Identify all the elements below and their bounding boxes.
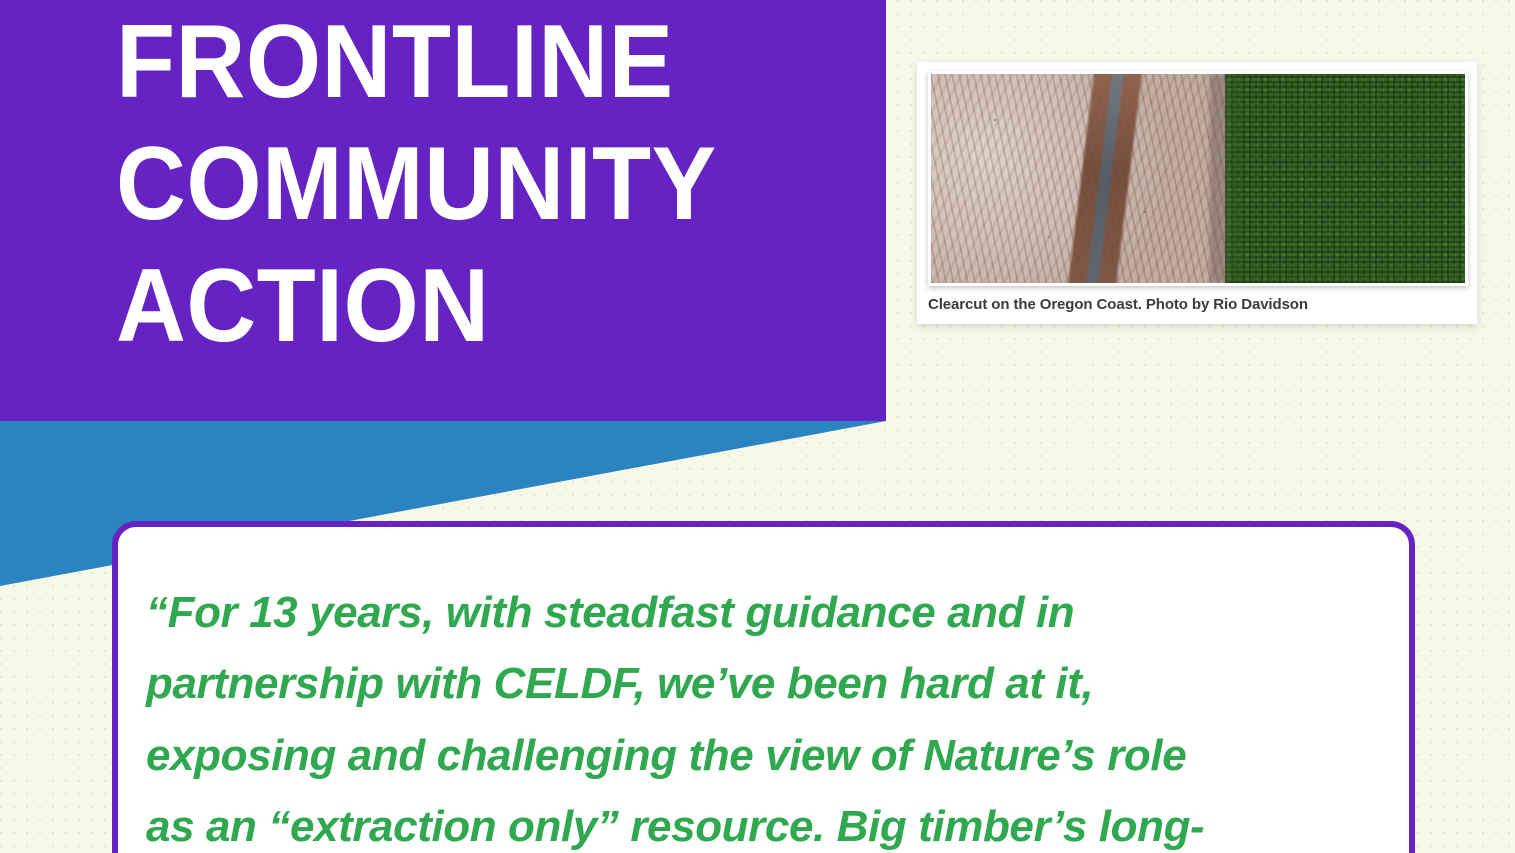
- purple-header-block: FRONTLINE COMMUNITY ACTION: [0, 0, 886, 421]
- photo-frame: [928, 71, 1468, 286]
- quote-card: “For 13 years, with steadfast guidance a…: [112, 521, 1415, 853]
- photo-region-standing-forest: [1225, 74, 1465, 283]
- quote-text: “For 13 years, with steadfast guidance a…: [146, 577, 1396, 853]
- photo-region-forest-edge: [1210, 74, 1248, 283]
- page-title: FRONTLINE COMMUNITY ACTION: [116, 0, 876, 358]
- clearcut-photo-image: [931, 74, 1465, 283]
- photo-card: Clearcut on the Oregon Coast. Photo by R…: [917, 62, 1477, 324]
- title-line-1: FRONTLINE: [116, 12, 823, 114]
- photo-caption: Clearcut on the Oregon Coast. Photo by R…: [928, 296, 1467, 313]
- title-line-3: ACTION: [116, 256, 823, 358]
- title-line-2: COMMUNITY: [116, 134, 823, 236]
- page-background: FRONTLINE COMMUNITY ACTION Clearcut on t…: [0, 0, 1515, 853]
